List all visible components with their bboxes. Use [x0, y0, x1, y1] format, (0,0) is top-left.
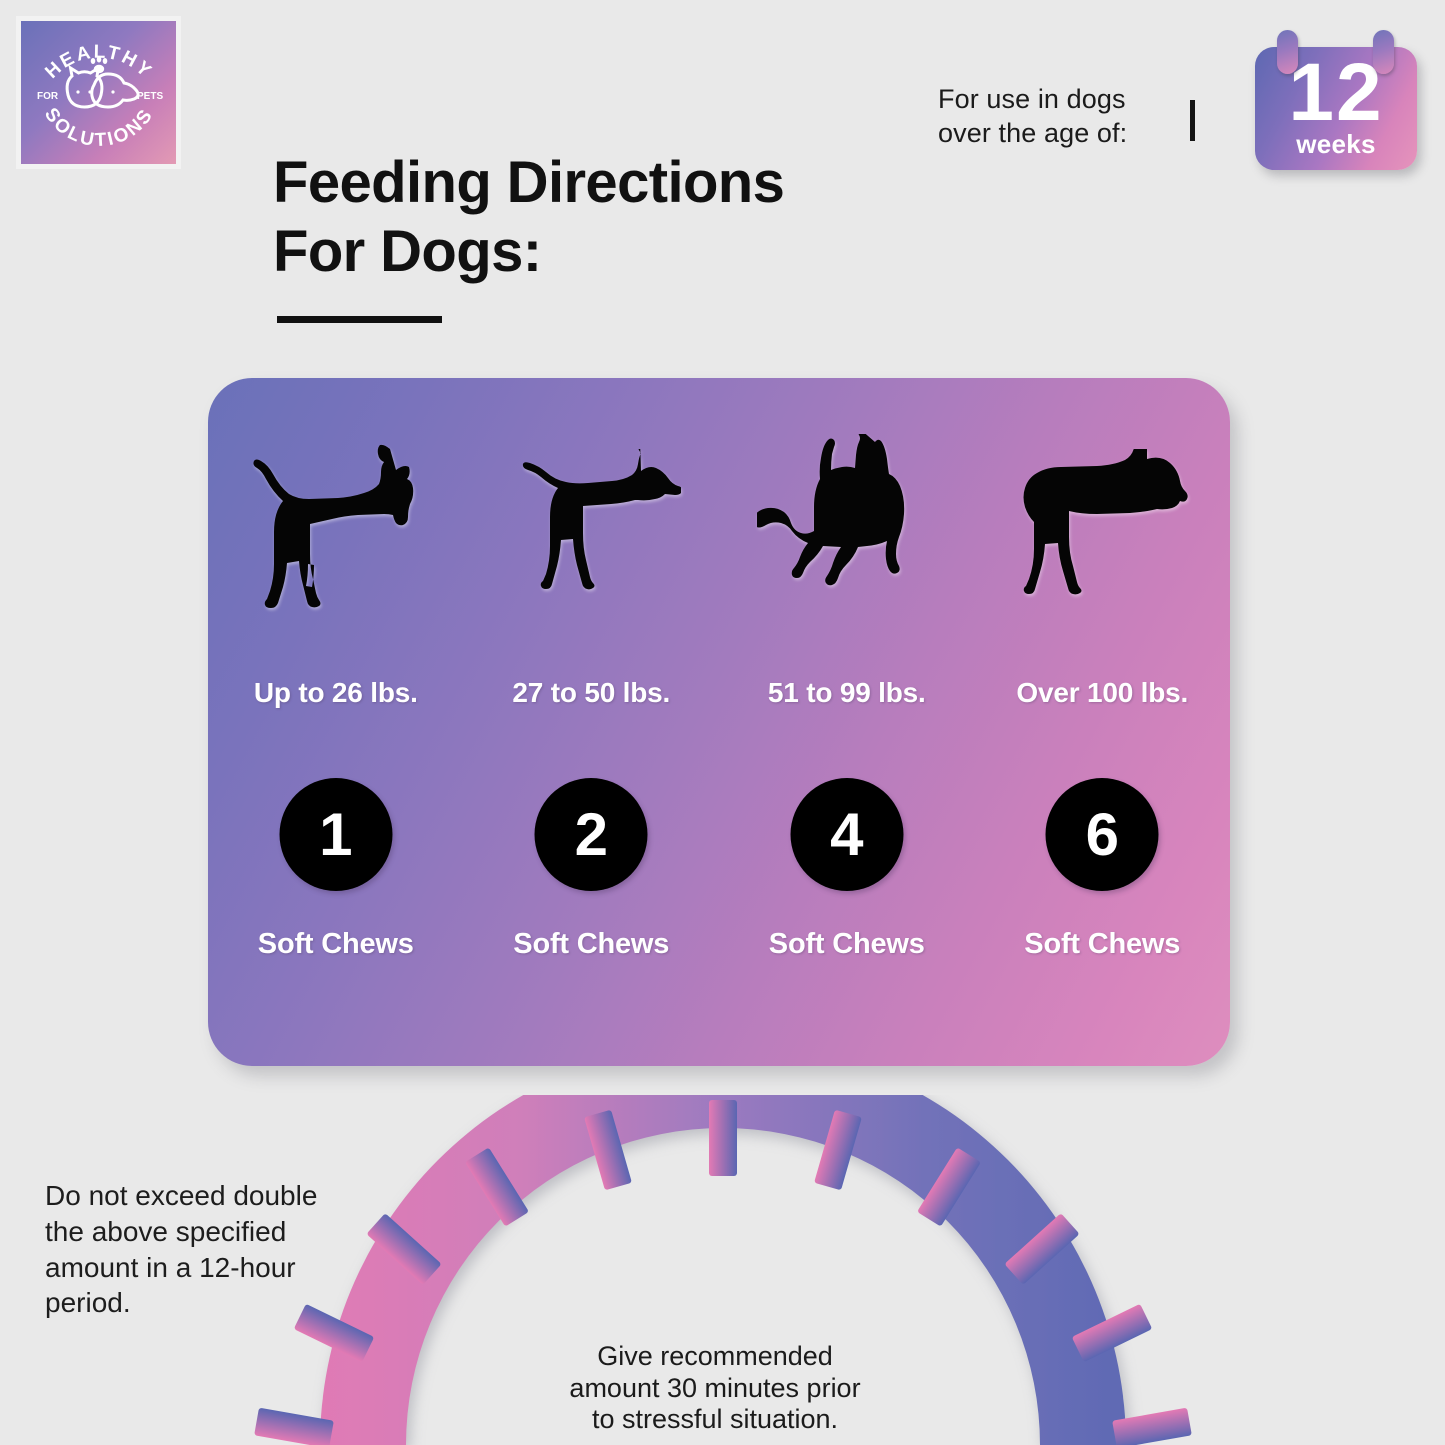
page-title-line1: Feeding Directions	[273, 148, 973, 217]
shorthair-dog-silhouette-icon	[464, 434, 720, 614]
brand-logo: HEALTHY SOLUTIONS FOR PETS	[16, 16, 181, 169]
vertical-divider	[1190, 100, 1195, 141]
chew-unit-label: Soft Chews	[208, 928, 464, 961]
chew-count-number: 4	[830, 805, 863, 865]
feeding-column: Up to 26 lbs. 1 Soft Chews	[208, 378, 464, 1066]
calendar-ring-right-icon	[1373, 30, 1394, 74]
calendar-badge: 12 weeks	[1255, 30, 1417, 170]
mastiff-dog-silhouette-icon	[975, 434, 1231, 614]
feeding-columns: Up to 26 lbs. 1 Soft Chews 27 to 50 lbs.…	[208, 378, 1230, 1066]
feeding-table-card: Up to 26 lbs. 1 Soft Chews 27 to 50 lbs.…	[208, 378, 1230, 1066]
healthy-solutions-logo-icon: HEALTHY SOLUTIONS FOR PETS	[24, 23, 174, 163]
feeding-column: 27 to 50 lbs. 2 Soft Chews	[464, 378, 720, 1066]
chew-count-badge: 6	[1046, 778, 1159, 891]
chew-unit-label: Soft Chews	[719, 928, 975, 961]
shepherd-dog-silhouette-icon	[719, 434, 975, 614]
chew-count-badge: 2	[535, 778, 648, 891]
calendar-ring-left-icon	[1277, 30, 1298, 74]
timing-note: Give recommended amount 30 minutes prior…	[500, 1341, 930, 1436]
chew-count-number: 2	[575, 805, 608, 865]
chew-count-number: 6	[1086, 805, 1119, 865]
weight-range-label: Over 100 lbs.	[975, 677, 1231, 709]
timing-note-line1: Give recommended	[500, 1341, 930, 1373]
calendar-number: 12	[1288, 58, 1383, 129]
chew-count-badge: 4	[790, 778, 903, 891]
terrier-dog-silhouette-icon	[208, 434, 464, 614]
chew-unit-label: Soft Chews	[464, 928, 720, 961]
svg-text:SOLUTIONS: SOLUTIONS	[39, 104, 157, 151]
page-title: Feeding Directions For Dogs:	[273, 148, 973, 286]
feeding-directions-infographic: HEALTHY SOLUTIONS FOR PETS For use	[0, 0, 1445, 1445]
feeding-column: 51 to 99 lbs. 4 Soft Chews	[719, 378, 975, 1066]
weight-range-label: 27 to 50 lbs.	[464, 677, 720, 709]
svg-text:FOR: FOR	[37, 91, 59, 102]
chew-count-badge: 1	[279, 778, 392, 891]
age-requirement-line2: over the age of:	[938, 116, 1188, 150]
title-underline-rule	[277, 316, 442, 323]
calendar-unit: weeks	[1296, 131, 1376, 157]
chew-count-number: 1	[319, 805, 352, 865]
age-requirement-label: For use in dogs over the age of:	[938, 82, 1188, 150]
age-requirement-line1: For use in dogs	[938, 82, 1188, 116]
timing-note-line3: to stressful situation.	[500, 1404, 930, 1436]
svg-text:PETS: PETS	[137, 91, 163, 102]
weight-range-label: 51 to 99 lbs.	[719, 677, 975, 709]
page-title-line2: For Dogs:	[273, 217, 973, 286]
weight-range-label: Up to 26 lbs.	[208, 677, 464, 709]
timing-note-line2: amount 30 minutes prior	[500, 1373, 930, 1405]
feeding-column: Over 100 lbs. 6 Soft Chews	[975, 378, 1231, 1066]
chew-unit-label: Soft Chews	[975, 928, 1231, 961]
